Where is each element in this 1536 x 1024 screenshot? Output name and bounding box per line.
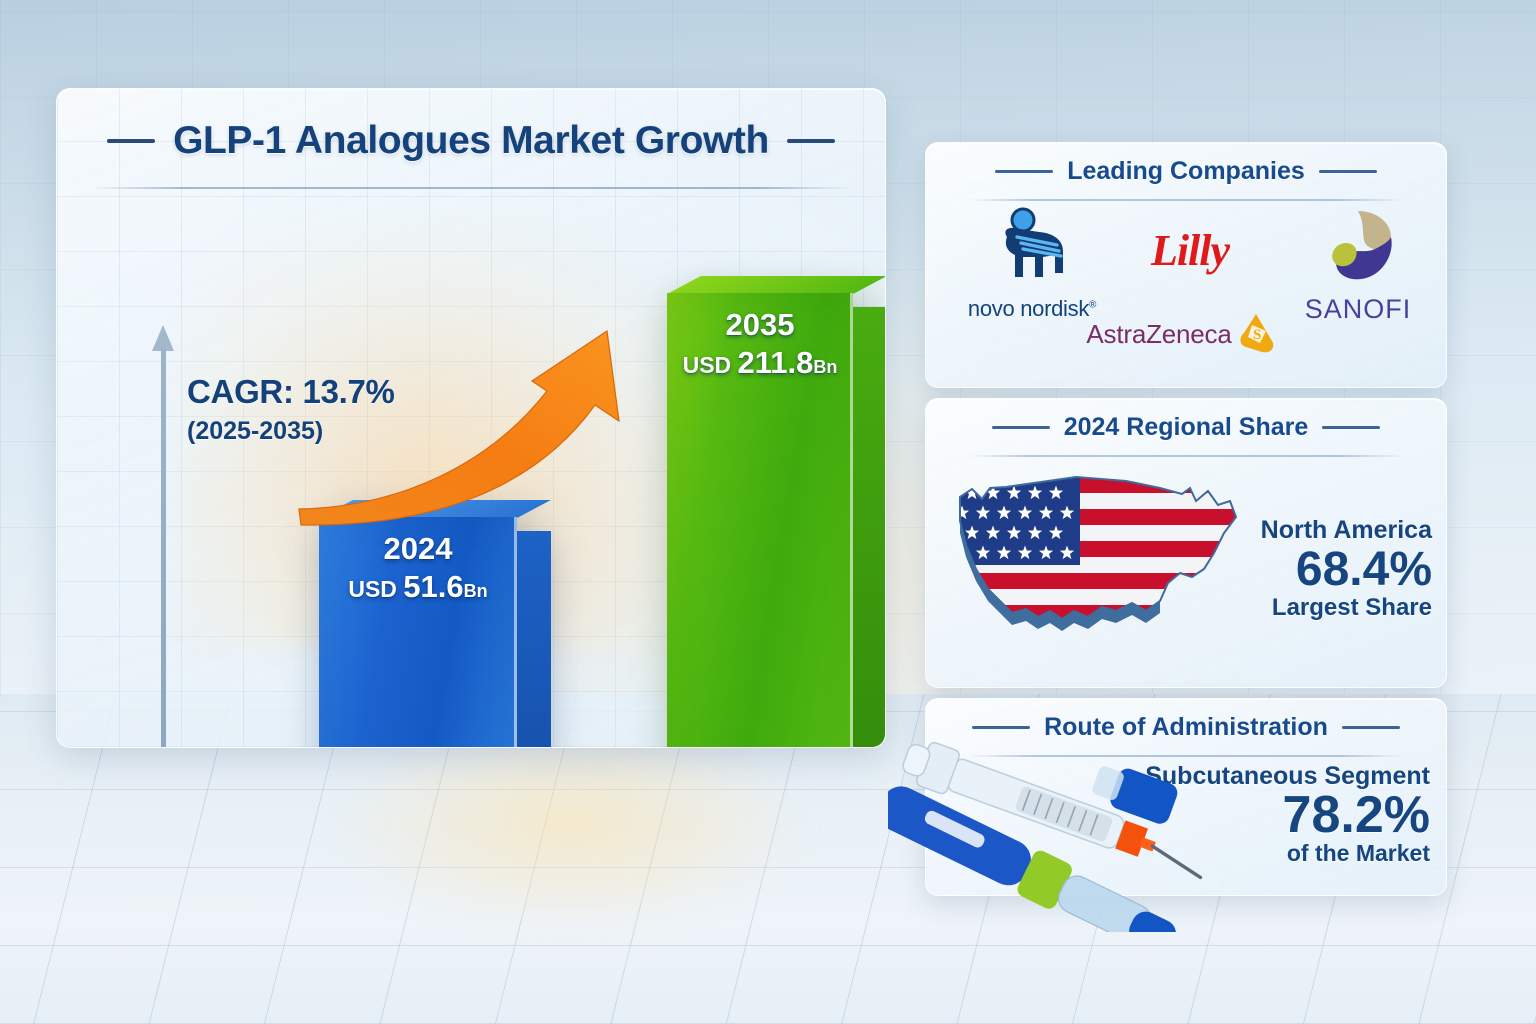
lilly-wordmark: Lilly — [1112, 225, 1268, 276]
bar-2024-value: USD 51.6Bn — [319, 570, 517, 604]
region-share-value: 68.4% — [1261, 546, 1432, 595]
svg-text:S: S — [1253, 327, 1261, 343]
regional-separator — [968, 455, 1404, 457]
astrazeneca-mark-icon: S — [1236, 311, 1282, 357]
page-title: GLP-1 Analogues Market Growth — [173, 119, 769, 163]
companies-title: Leading Companies — [1067, 157, 1305, 186]
bar-2024-year: 2024 — [319, 533, 517, 566]
logo-novo-nordisk: novo nordisk® — [944, 207, 1120, 322]
chart-card: GLP-1 Analogues Market Growth CAGR: 13.7… — [56, 88, 886, 748]
companies-separator — [968, 199, 1404, 201]
logo-lilly: Lilly — [1112, 225, 1268, 276]
growth-arrow-icon — [289, 295, 709, 535]
regional-stat: North America 68.4% Largest Share — [1261, 517, 1432, 622]
bar-2035-side-face — [853, 307, 886, 748]
title-separator — [91, 187, 851, 189]
region-share-caption: Largest Share — [1261, 595, 1432, 621]
syringe-and-pen-icon — [888, 742, 1238, 932]
logo-astrazeneca: AstraZeneca S — [1068, 311, 1300, 357]
usa-map-icon — [946, 461, 1266, 676]
logo-sanofi: SANOFI — [1274, 203, 1442, 325]
bar-2024: 2024 USD 51.6Bn — [319, 517, 517, 748]
companies-dash-right — [1319, 170, 1377, 173]
bar-2024-side-face — [517, 531, 551, 748]
panel-leading-companies: Leading Companies novo nordisk® Lilly SA… — [925, 142, 1447, 388]
title-dash-left — [107, 139, 155, 143]
regional-dash-right — [1322, 426, 1380, 429]
sanofi-mark-icon — [1315, 203, 1401, 289]
regional-head: 2024 Regional Share — [926, 413, 1446, 442]
companies-dash-left — [995, 170, 1053, 173]
bar-2035-top-face — [667, 276, 886, 294]
registered-mark: ® — [1089, 300, 1096, 311]
route-head: Route of Administration — [926, 713, 1446, 742]
bar-2035-unit: Bn — [813, 357, 837, 377]
astrazeneca-wordmark: AstraZeneca — [1086, 319, 1231, 350]
bar-2035-number: 211.8 — [738, 345, 814, 380]
apis-bull-icon — [977, 207, 1087, 291]
bar-2024-unit: Bn — [464, 581, 488, 601]
regional-dash-left — [992, 426, 1050, 429]
companies-head: Leading Companies — [926, 157, 1446, 186]
region-name: North America — [1261, 517, 1432, 545]
route-dash-right — [1342, 726, 1400, 729]
panel-regional-share: 2024 Regional Share — [925, 398, 1447, 688]
bar-2024-currency: USD — [348, 576, 397, 602]
bar-2024-number: 51.6 — [403, 569, 463, 604]
chart-title-row: GLP-1 Analogues Market Growth — [57, 119, 885, 163]
title-dash-right — [787, 139, 835, 143]
route-dash-left — [972, 726, 1030, 729]
company-logo-group: novo nordisk® Lilly SANOFI AstraZeneca S — [926, 203, 1446, 383]
regional-title: 2024 Regional Share — [1064, 413, 1309, 442]
route-title: Route of Administration — [1044, 713, 1328, 742]
y-axis — [161, 347, 166, 748]
bar-2024-label: 2024 USD 51.6Bn — [319, 533, 517, 604]
